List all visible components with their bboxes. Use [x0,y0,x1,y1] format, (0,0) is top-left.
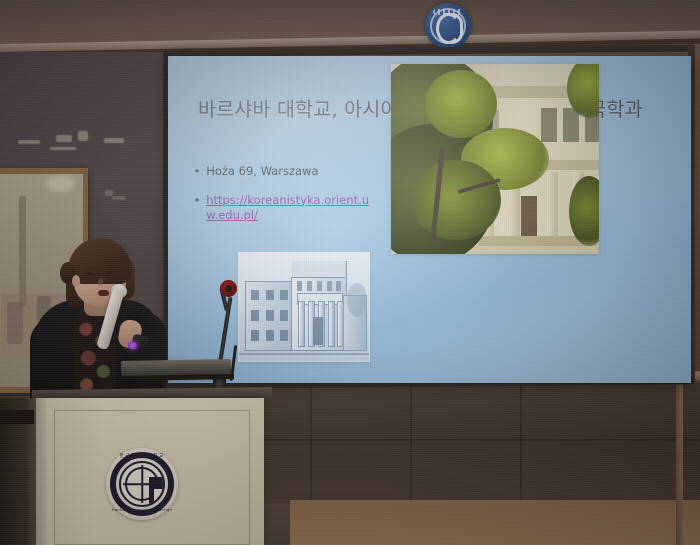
building-sketch [238,252,370,362]
microphone-led-indicator [128,342,137,349]
emblem-korean-text: 한국외국어대학교 [106,453,178,459]
podium-shelf [0,410,34,424]
speaker-nose [98,278,103,286]
projection-screen: 바르샤바 대학교, 아시아-아프리카 문화학부, 한국학과 • Hoża 69,… [168,56,691,383]
wall-baseboard [290,500,700,545]
speaker-eye-left [86,272,93,275]
building-photo [391,64,599,254]
wall-vertical-trim [676,383,683,545]
speaker-ear [72,275,80,287]
emblem-english-text: Hankuk University of Foreign Studies [106,508,178,516]
slide-bullet-list: • Hoża 69, Warszawa • https://koreanisty… [195,164,380,237]
hankuk-university-emblem: 한국외국어대학교 Hankuk University of Foreign St… [106,448,178,520]
list-item: • Hoża 69, Warszawa [195,164,380,180]
gooseneck-microphone-capsule [225,285,232,292]
speaker-mouth [98,290,109,296]
list-item: • https://koreanistyka.orient.uw.edu.pl/ [195,193,380,224]
bullet-marker-icon: • [195,164,199,179]
bullet-marker-icon: • [195,193,199,208]
presentation-room-photo: 바르샤바 대학교, 아시아-아프리카 문화학부, 한국학과 • Hoża 69,… [0,0,700,545]
cd-monogram-emblem [425,3,471,49]
presentation-slide: 바르샤바 대학교, 아시아-아프리카 문화학부, 한국학과 • Hoża 69,… [168,56,691,383]
slide-hyperlink[interactable]: https://koreanistyka.orient.uw.edu.pl/ [206,193,380,224]
bullet-text: Hoża 69, Warszawa [206,164,318,180]
emblem-letter-d [445,13,463,44]
speaker-eye-right [106,271,113,274]
glass-glare [45,176,75,192]
